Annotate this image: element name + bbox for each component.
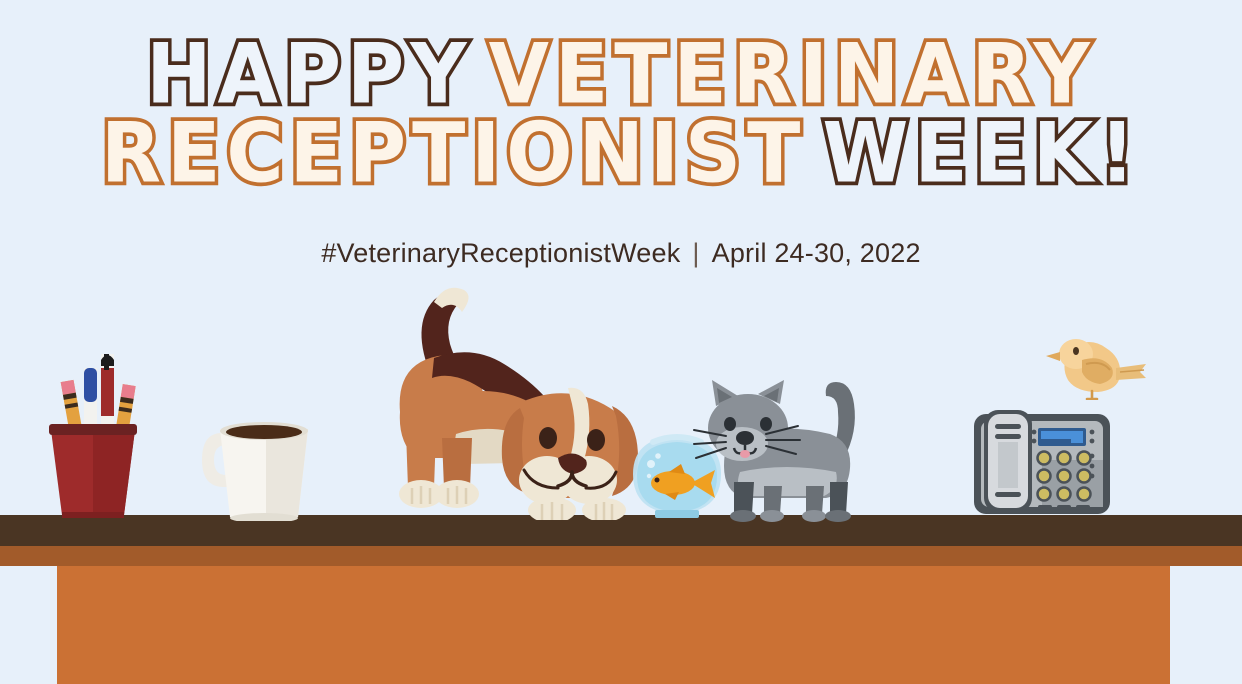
title-block: HAPPYVETERINARY RECEPTIONISTWEEK!	[0, 38, 1242, 192]
cat-icon	[686, 370, 876, 522]
subtitle-date-range: April 24-30, 2022	[712, 238, 921, 268]
subtitle-hashtag: #VeterinaryReceptionistWeek	[321, 238, 680, 268]
pencil-cup-icon	[38, 340, 148, 518]
desk-edge	[0, 546, 1242, 566]
title-word-receptionist: RECEPTIONIST	[101, 115, 806, 194]
subtitle: #VeterinaryReceptionistWeek|April 24-30,…	[0, 238, 1242, 269]
desk-front-panel	[57, 566, 1170, 684]
subtitle-separator: |	[680, 238, 711, 269]
title-word-happy: HAPPY	[146, 36, 472, 115]
title-line-1: HAPPYVETERINARY	[0, 36, 1242, 115]
desk-phone-icon	[968, 390, 1118, 518]
title-word-week: WEEK!	[822, 115, 1141, 194]
dog-icon	[372, 282, 662, 520]
title-line-2: RECEPTIONISTWEEK!	[0, 115, 1242, 194]
title-word-veterinary: VETERINARY	[489, 36, 1096, 115]
coffee-mug-icon	[190, 415, 320, 521]
bird-icon	[1040, 334, 1148, 400]
veterinary-receptionist-week-banner: HAPPYVETERINARY RECEPTIONISTWEEK! #Veter…	[0, 0, 1242, 684]
